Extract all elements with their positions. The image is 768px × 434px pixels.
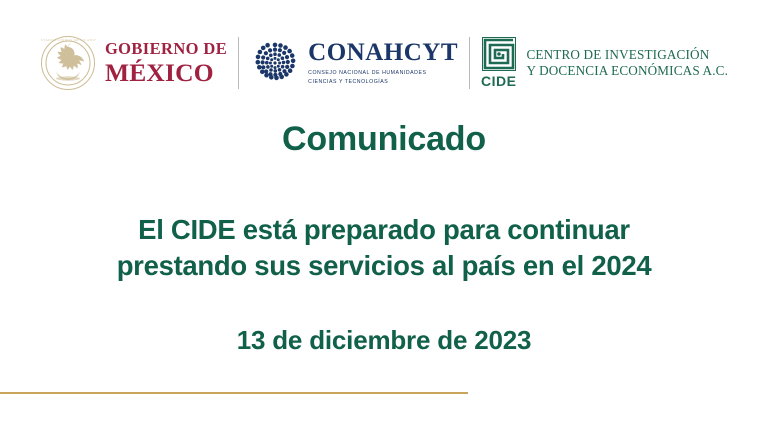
conahcyt-dot-rosette-icon <box>250 38 300 88</box>
gobierno-line-2: MÉXICO <box>105 60 227 86</box>
footer-accent-rule <box>0 392 468 394</box>
headline-line-1: El CIDE está preparado para continuar <box>0 212 768 248</box>
cide-name-line-1: CENTRO DE INVESTIGACIÓN <box>526 47 728 64</box>
gobierno-line-1: GOBIERNO DE <box>105 41 227 58</box>
headline: El CIDE está preparado para continuar pr… <box>0 156 768 285</box>
conahcyt-subtitle: CONSEJO NACIONAL DE HUMANIDADES CIENCIAS… <box>308 69 458 85</box>
cide-name-line-2: Y DOCENCIA ECONÓMICAS A.C. <box>526 63 728 80</box>
gobierno-de-mexico-wordmark: GOBIERNO DE MÉXICO <box>105 41 227 85</box>
logo-divider-2 <box>469 37 470 89</box>
logo-divider-1 <box>238 37 239 89</box>
dateline: 13 de diciembre de 2023 <box>0 285 768 353</box>
institutional-logo-bar: ESTADOS UNIDOS MEXICANOS GOBIERNO DE MÉX… <box>0 27 768 99</box>
conahcyt-subtitle-line-1: CONSEJO NACIONAL DE HUMANIDADES <box>308 70 426 76</box>
conahcyt-logo: CONAHCYT CONSEJO NACIONAL DE HUMANIDADES… <box>250 38 458 88</box>
page-title: Comunicado <box>0 122 768 156</box>
communique-page: ESTADOS UNIDOS MEXICANOS GOBIERNO DE MÉX… <box>0 0 768 434</box>
escudo-nacional-icon: ESTADOS UNIDOS MEXICANOS <box>40 34 96 92</box>
cide-square-spiral-icon <box>482 37 516 71</box>
conahcyt-wordmark: CONAHCYT CONSEJO NACIONAL DE HUMANIDADES… <box>308 40 458 85</box>
cide-wordmark: CENTRO DE INVESTIGACIÓN Y DOCENCIA ECONÓ… <box>526 47 728 80</box>
gobierno-de-mexico-logo: ESTADOS UNIDOS MEXICANOS GOBIERNO DE MÉX… <box>40 34 227 92</box>
conahcyt-name: CONAHCYT <box>308 40 458 65</box>
headline-line-2: prestando sus servicios al país en el 20… <box>0 248 768 284</box>
svg-text:ESTADOS UNIDOS MEXICANOS: ESTADOS UNIDOS MEXICANOS <box>40 38 96 42</box>
conahcyt-subtitle-line-2: CIENCIAS Y TECNOLOGÍAS <box>308 79 388 85</box>
cide-logomark-block: CIDE <box>481 37 516 89</box>
communique-content: Comunicado El CIDE está preparado para c… <box>0 122 768 353</box>
logo-group: ESTADOS UNIDOS MEXICANOS GOBIERNO DE MÉX… <box>40 27 728 99</box>
cide-acronym: CIDE <box>481 73 516 89</box>
cide-logo: CIDE CENTRO DE INVESTIGACIÓN Y DOCENCIA … <box>481 37 728 89</box>
